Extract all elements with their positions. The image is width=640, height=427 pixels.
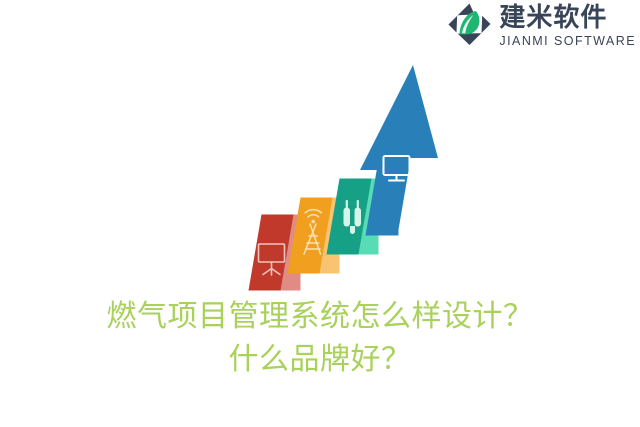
leaf-swoosh-logo-icon bbox=[445, 2, 493, 50]
ascending-arrow-chart bbox=[240, 62, 460, 292]
brand-name-en: JIANMI SOFTWARE bbox=[499, 35, 636, 48]
promo-banner: 建米软件 JIANMI SOFTWARE bbox=[0, 0, 640, 427]
headline-line-1: 燃气项目管理系统怎么样设计？ bbox=[0, 296, 640, 339]
brand-logo: 建米软件 JIANMI SOFTWARE bbox=[445, 2, 636, 50]
chart-bar-blue-arrow bbox=[360, 65, 438, 236]
headline-text: 燃气项目管理系统怎么样设计？ 什么品牌好？ bbox=[0, 296, 640, 381]
headline-line-2: 什么品牌好？ bbox=[0, 339, 640, 382]
brand-name-cn: 建米软件 bbox=[499, 5, 636, 31]
brand-text-block: 建米软件 JIANMI SOFTWARE bbox=[499, 5, 636, 48]
